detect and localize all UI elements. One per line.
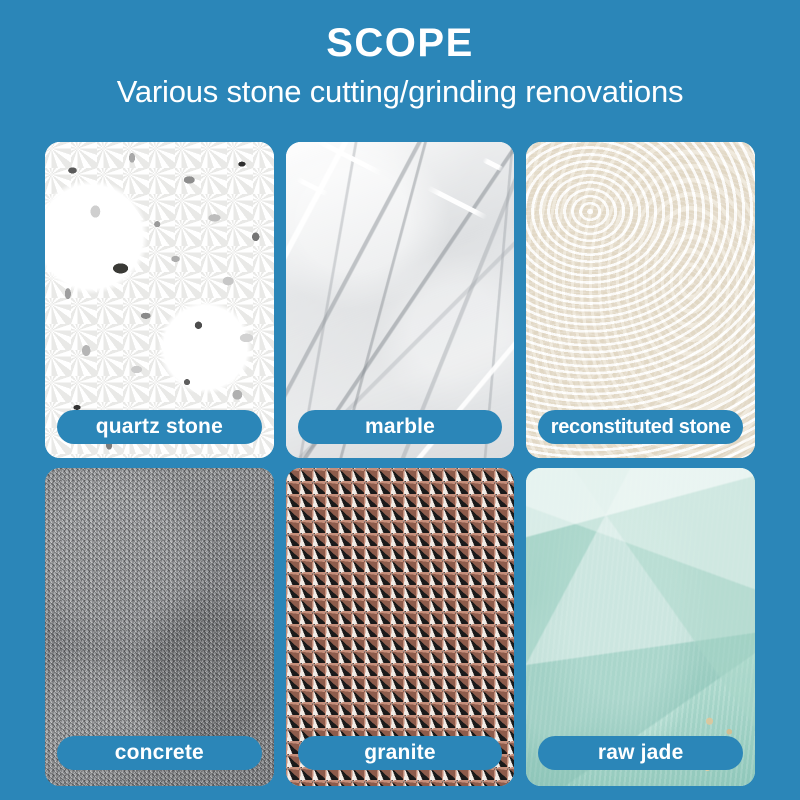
marble-highlight-streak [295, 177, 328, 197]
marble-highlight-streak [426, 185, 487, 219]
material-grid: quartz stone marble reconstituted stone [45, 142, 755, 786]
material-label-pill: granite [298, 736, 503, 770]
material-label-text: reconstituted stone [551, 416, 731, 439]
scope-infographic: SCOPE Various stone cutting/grinding ren… [0, 0, 800, 800]
material-label-text: marble [365, 415, 435, 439]
marble-highlight-streak [313, 142, 383, 176]
material-label-pill: quartz stone [57, 410, 262, 444]
page-subtitle: Various stone cutting/grinding renovatio… [0, 73, 800, 110]
material-label-text: concrete [115, 741, 204, 765]
material-label-pill: reconstituted stone [538, 410, 743, 444]
material-card-marble[interactable]: marble [286, 142, 515, 458]
material-label-pill: concrete [57, 736, 262, 770]
material-label-text: raw jade [598, 741, 684, 765]
material-card-reconstituted-stone[interactable]: reconstituted stone [526, 142, 755, 458]
material-card-concrete[interactable]: concrete [45, 468, 274, 786]
material-card-quartz-stone[interactable]: quartz stone [45, 142, 274, 458]
material-label-pill: raw jade [538, 736, 743, 770]
page-title: SCOPE [0, 22, 800, 64]
material-label-text: granite [364, 741, 435, 765]
material-card-raw-jade[interactable]: raw jade [526, 468, 755, 786]
header: SCOPE Various stone cutting/grinding ren… [0, 0, 800, 110]
material-label-pill: marble [298, 410, 503, 444]
marble-highlight-streak [482, 157, 504, 171]
material-label-text: quartz stone [96, 415, 223, 439]
material-card-granite[interactable]: granite [286, 468, 515, 786]
